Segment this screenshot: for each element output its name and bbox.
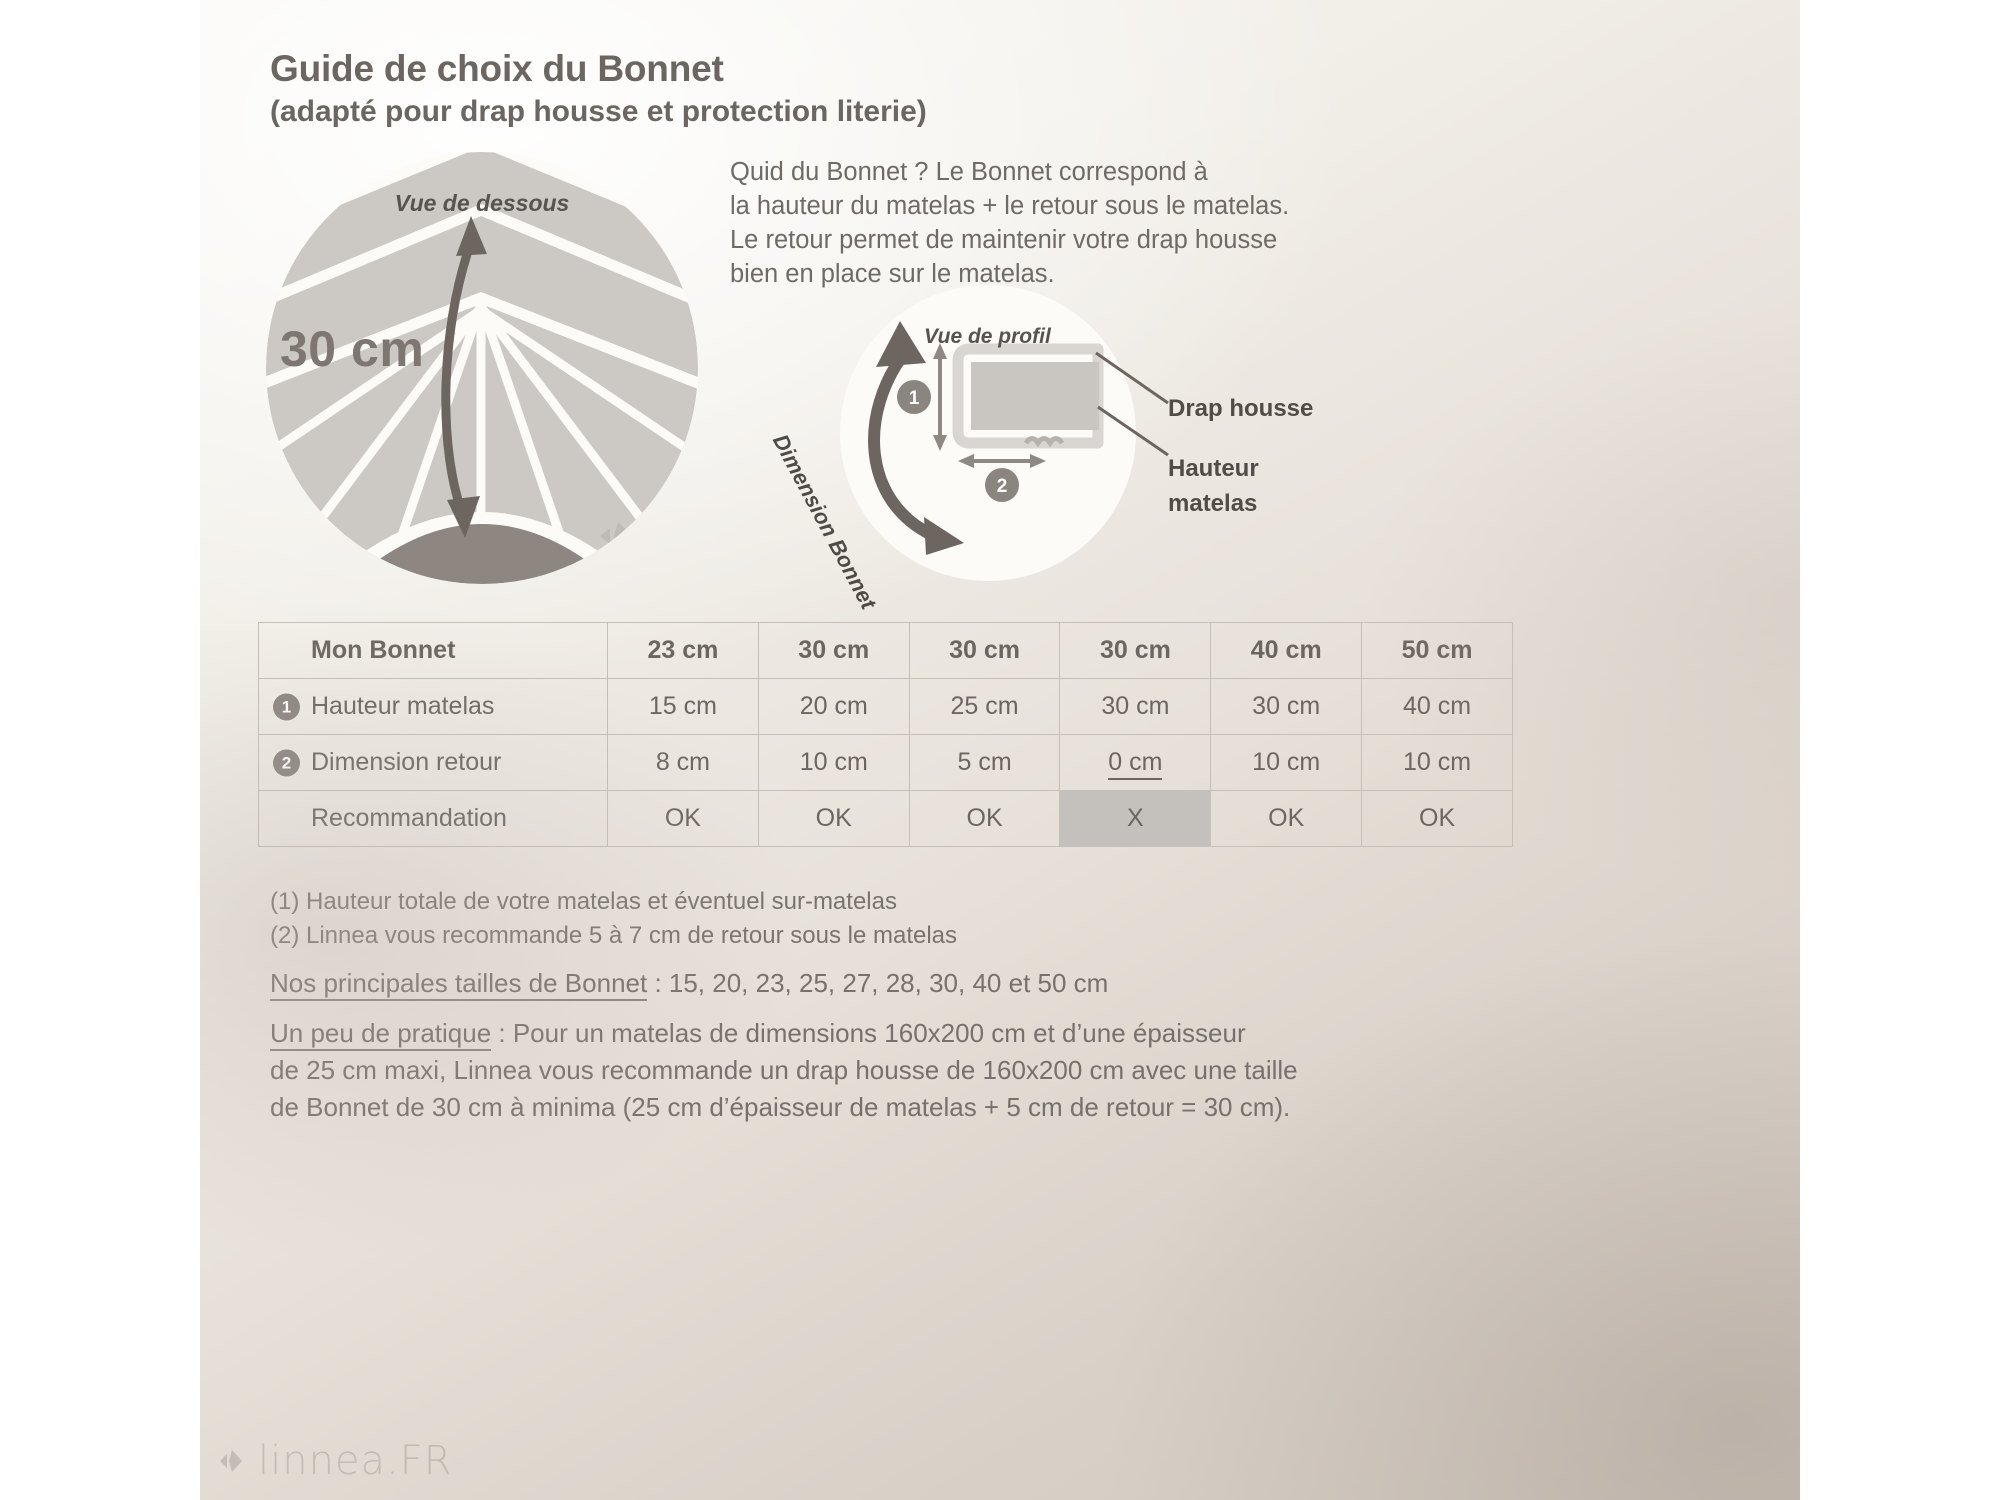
table-label-recommandation: Recommandation [259,791,608,847]
bottom-view-diagram: Vue de dessous 30 cm [266,152,698,584]
intro-line-2: la hauteur du matelas + le retour sous l… [730,189,1350,223]
page-gutter-left [0,0,200,1500]
table-label-dimension-retour: 2 Dimension retour [259,735,608,791]
badge-2-profile: 2 [985,468,1019,502]
poster-canvas: Guide de choix du Bonnet (adapté pour dr… [200,0,1800,1500]
table-row-dimension-retour: 2 Dimension retour 8 cm 10 cm 5 cm 0 cm … [259,735,1513,791]
sizes-block-label: Nos principales tailles de Bonnet [270,968,647,1001]
table-cell-reco-0: OK [608,791,759,847]
table-cell-reco-1: OK [758,791,909,847]
practice-block-label: Un peu de pratique [270,1018,491,1051]
table-cell-retour-3: 0 cm [1060,735,1211,791]
table-cell-bonnet-4: 40 cm [1211,623,1362,679]
callout-hauteur-matelas-l2: matelas [1168,490,1257,518]
table-cell-bonnet-5: 50 cm [1362,623,1513,679]
table-label-hauteur-matelas: 1 Hauteur matelas [259,679,608,735]
bonnet-arrow-head-top [876,321,926,367]
bottom-view-caption: Vue de dessous [266,190,698,217]
dimension-bonnet-arrow [874,321,964,555]
page-title: Guide de choix du Bonnet [270,48,724,90]
badge-1: 1 [273,693,300,720]
table-cell-hauteur-4: 30 cm [1211,679,1362,735]
table-cell-reco-2: OK [909,791,1060,847]
table-cell-reco-4: OK [1211,791,1362,847]
intro-line-3: Le retour permet de maintenir votre drap… [730,223,1350,257]
badge-2: 2 [273,749,300,776]
bonnet-comparison-table: Mon Bonnet 23 cm 30 cm 30 cm 30 cm 40 cm… [258,622,1513,847]
linnea-logo: linnea.FR [220,1438,453,1484]
page-subtitle: (adapté pour drap housse et protection l… [270,95,927,129]
page-gutter-right [1800,0,2000,1500]
retour-arrow-left [958,454,974,468]
sizes-block-rest: : 15, 20, 23, 25, 27, 28, 30, 40 et 50 c… [647,968,1108,998]
intro-paragraph: Quid du Bonnet ? Le Bonnet correspond à … [730,155,1350,291]
callout-drap-housse: Drap housse [1168,395,1313,423]
badge-1-profile: 1 [897,380,931,414]
table-cell-hauteur-5: 40 cm [1362,679,1513,735]
footnote-2: (2) Linnea vous recommande 5 à 7 cm de r… [270,922,957,950]
practice-block-line-1: Un peu de pratique : Pour un matelas de … [270,1018,1246,1049]
practice-block-line1-rest: : Pour un matelas de dimensions 160x200 … [491,1018,1245,1048]
practice-block-line-3: de Bonnet de 30 cm à minima (25 cm d’épa… [270,1092,1290,1123]
poster-page: Guide de choix du Bonnet (adapté pour dr… [0,0,2000,1500]
table-cell-bonnet-2: 30 cm [909,623,1060,679]
sizes-block: Nos principales tailles de Bonnet : 15, … [270,968,1108,999]
table-cell-hauteur-3: 30 cm [1060,679,1211,735]
callout-hauteur-matelas-l1: Hauteur [1168,455,1259,483]
bonnet-arrow-head-bottom [924,517,964,555]
height-arrow-bottom [933,435,947,451]
table-cell-retour-3-value: 0 cm [1108,748,1162,780]
table-cell-reco-3: X [1060,791,1211,847]
callout-leader-lines [1096,353,1168,455]
svg-text:2: 2 [997,476,1008,497]
table-row-hauteur-matelas: 1 Hauteur matelas 15 cm 20 cm 25 cm 30 c… [259,679,1513,735]
table-row-header: Mon Bonnet 23 cm 30 cm 30 cm 30 cm 40 cm… [259,623,1513,679]
profile-view-caption: Vue de profil [924,325,1051,349]
profile-view-diagram: 1 2 Vue de profil [840,285,1136,581]
table-cell-retour-1: 10 cm [758,735,909,791]
table-cell-retour-2: 5 cm [909,735,1060,791]
svg-text:1: 1 [909,388,920,409]
table-header-label: Mon Bonnet [259,623,608,679]
linnea-logo-text: linnea.FR [258,1438,453,1484]
table-cell-bonnet-3: 30 cm [1060,623,1211,679]
table-label-retour-text: Dimension retour [311,748,501,776]
practice-block-line-2: de 25 cm maxi, Linnea vous recommande un… [270,1055,1298,1086]
table-cell-hauteur-1: 20 cm [758,679,909,735]
table-cell-retour-5: 10 cm [1362,735,1513,791]
footnote-1: (1) Hauteur totale de votre matelas et é… [270,888,897,916]
table-cell-retour-4: 10 cm [1211,735,1362,791]
retour-arrow-right [1030,454,1046,468]
table-cell-hauteur-0: 15 cm [608,679,759,735]
table-cell-hauteur-2: 25 cm [909,679,1060,735]
table-cell-retour-0: 8 cm [608,735,759,791]
bonnet-measure-label: 30 cm [280,320,424,378]
table-label-hauteur-text: Hauteur matelas [311,692,494,720]
table-row-recommandation: Recommandation OK OK OK X OK OK [259,791,1513,847]
table-cell-bonnet-0: 23 cm [608,623,759,679]
intro-line-1: Quid du Bonnet ? Le Bonnet correspond à [730,155,1350,189]
table-cell-bonnet-1: 30 cm [758,623,909,679]
linnea-logo-icon [220,1448,246,1474]
table-cell-reco-5: OK [1362,791,1513,847]
mattress-block [971,362,1099,430]
